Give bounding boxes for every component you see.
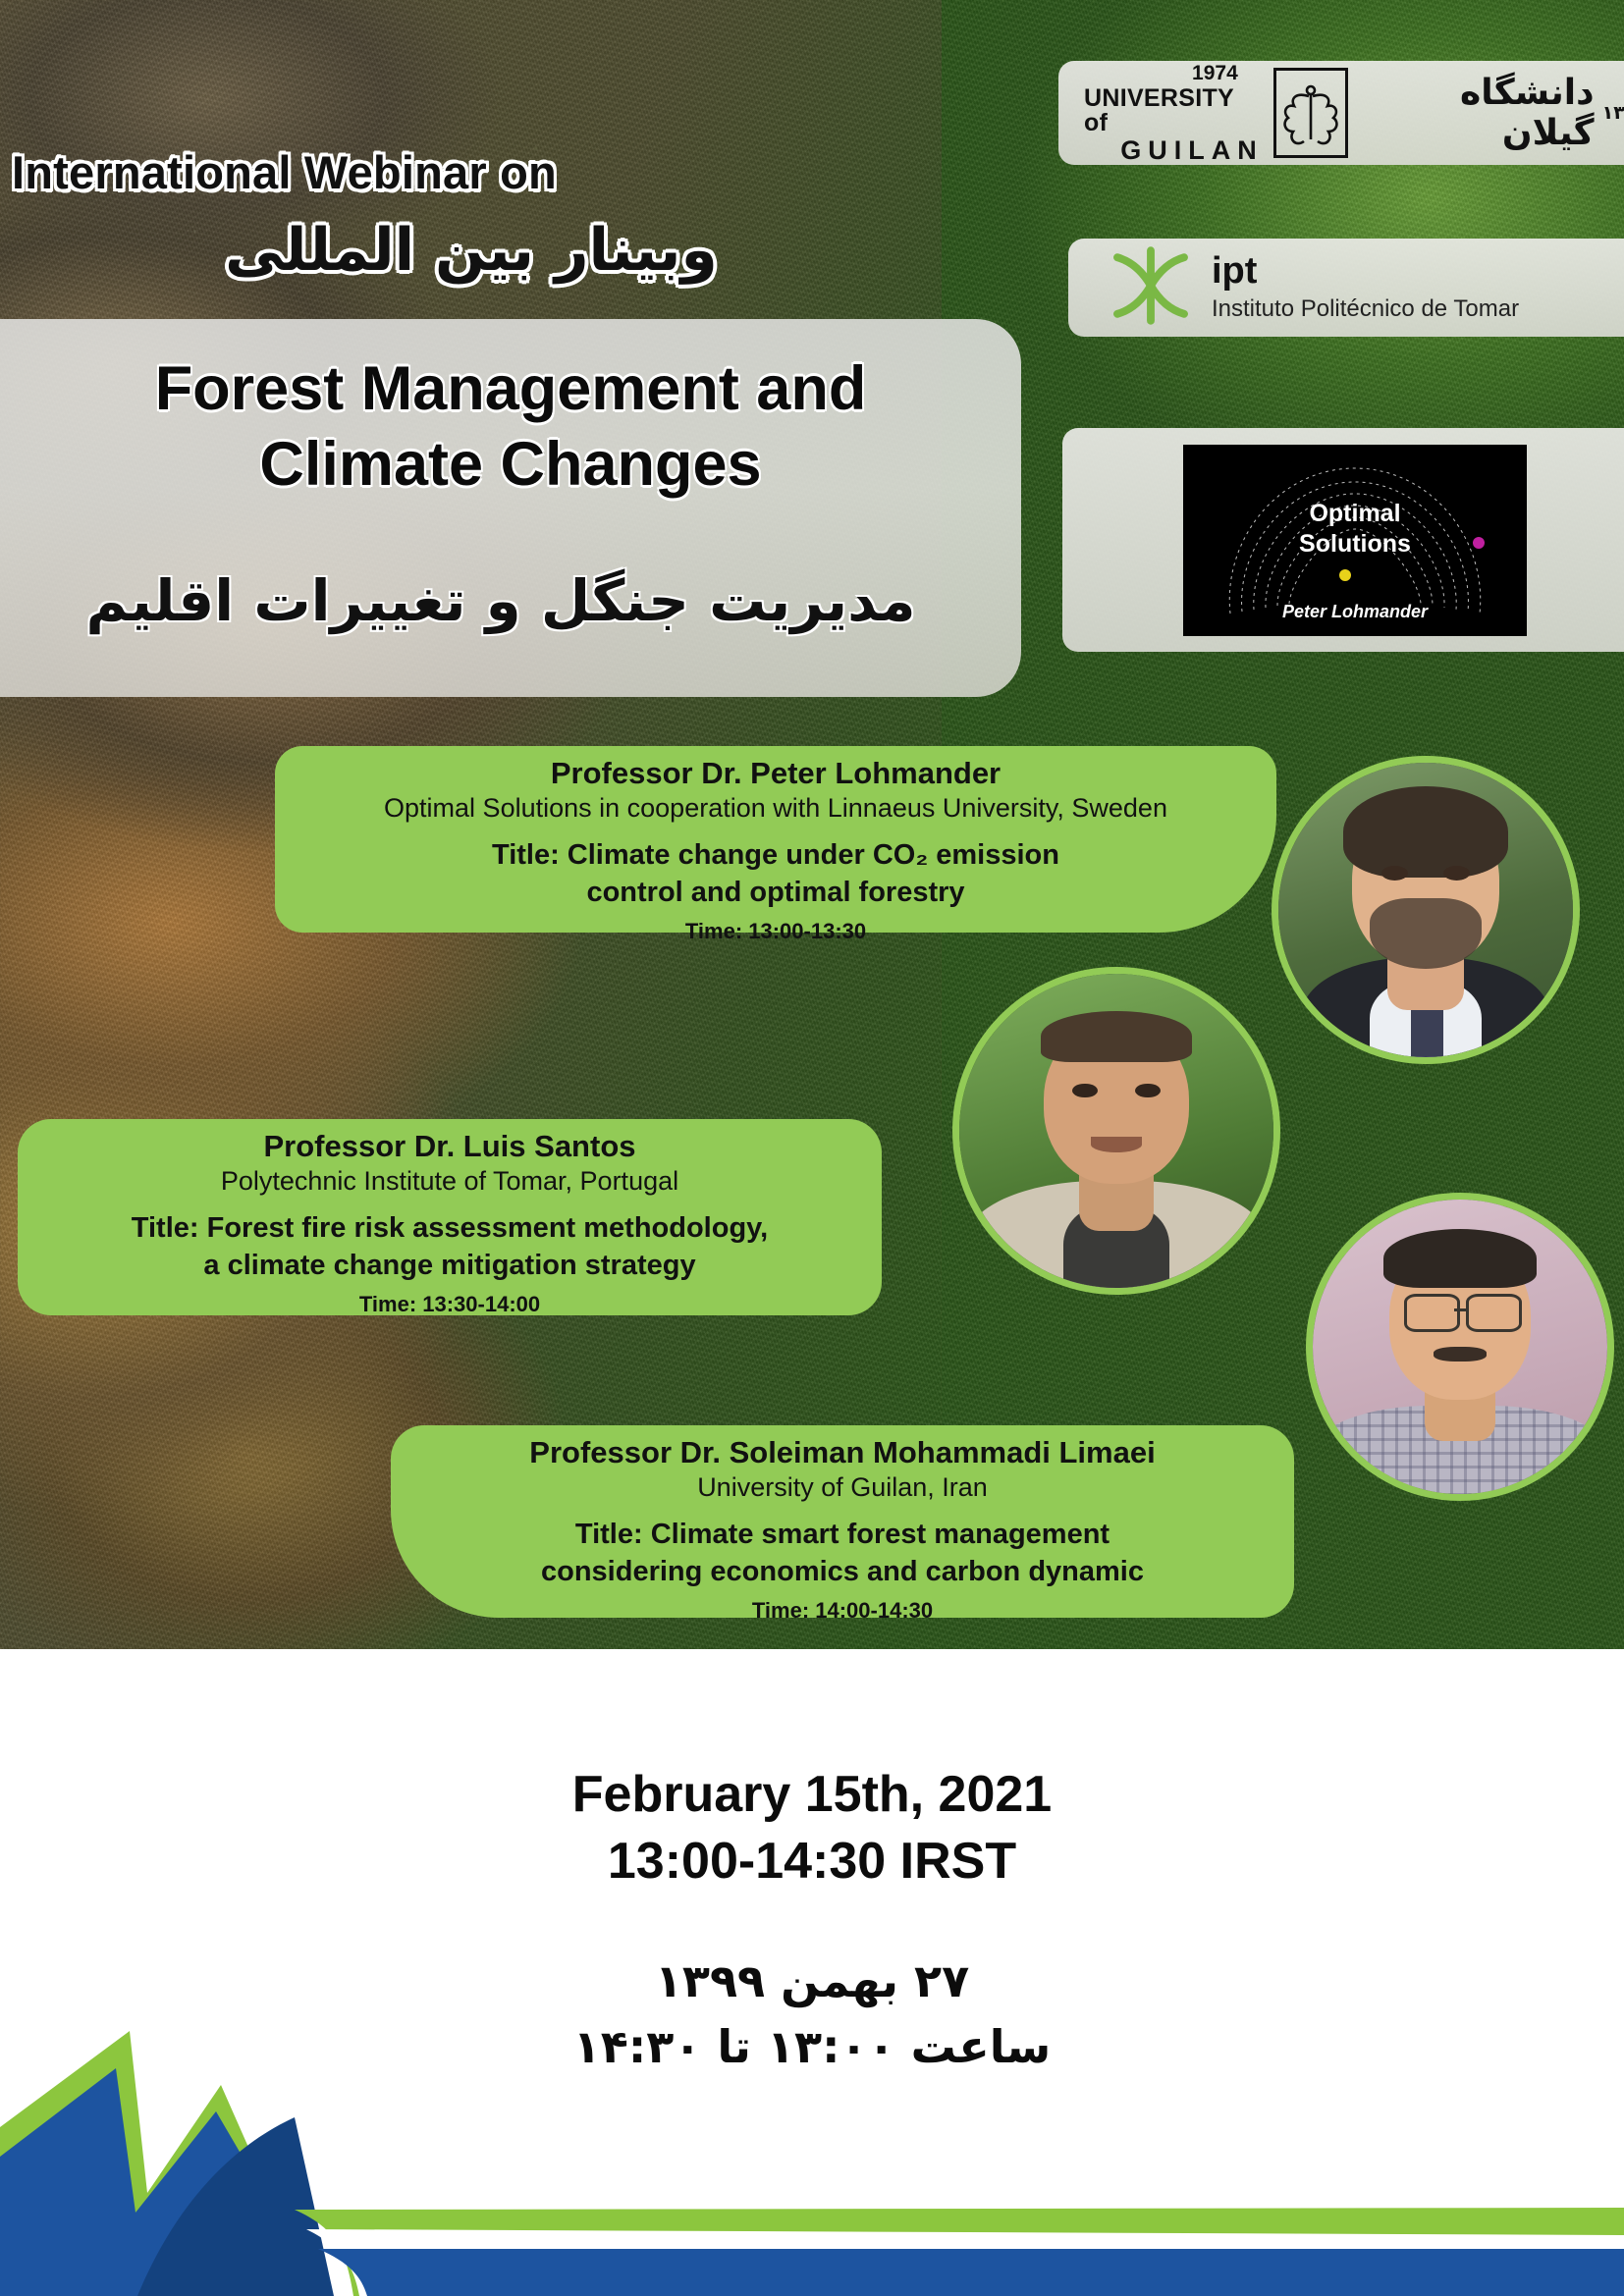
header-english-line: International Webinar on (12, 145, 557, 199)
speaker-2-time: Time: 13:30-14:00 (18, 1292, 882, 1317)
title-english-line2: Climate Changes (0, 427, 1021, 503)
optimal-title-line2: Solutions (1183, 529, 1527, 560)
speaker-card-2: Professor Dr. Luis Santos Polytechnic In… (18, 1119, 882, 1315)
footer-decoration (0, 2002, 1624, 2296)
speaker-1-talk-title: Title: Climate change under CO₂ emission… (275, 837, 1276, 911)
speaker-1-time: Time: 13:00-13:30 (275, 919, 1276, 944)
speaker-2-talk-title-line1: Title: Forest fire risk assessment metho… (18, 1210, 882, 1248)
logo-university-of-guilan: 1974 UNIVERSITY of GUILAN ۱۳۵۳ دانشگاه گ… (1058, 61, 1624, 165)
speaker-2-talk-title-line2: a climate change mitigation strategy (18, 1248, 882, 1285)
ipt-full-name: Instituto Politécnico de Tomar (1212, 295, 1519, 323)
logo-optimal-solutions: Optimal Solutions Peter Lohmander (1062, 428, 1624, 652)
speaker-3-talk-title-line1: Title: Climate smart forest management (391, 1517, 1294, 1554)
speaker-3-affiliation: University of Guilan, Iran (391, 1472, 1294, 1503)
speaker-3-talk-title: Title: Climate smart forest management c… (391, 1517, 1294, 1590)
page-title: Forest Management and Climate Changes (0, 351, 1021, 503)
portrait-soleiman-mohammadi-limaei (1306, 1193, 1614, 1501)
title-persian: مدیریت جنگل و تغییرات اقلیم (0, 567, 1001, 634)
optimal-solutions-author: Peter Lohmander (1183, 602, 1527, 622)
guilan-name-line2: GUILAN (1120, 137, 1264, 164)
optimal-title-line1: Optimal (1183, 499, 1527, 529)
speaker-1-talk-title-line2: control and optimal forestry (275, 875, 1276, 912)
speaker-1-affiliation: Optimal Solutions in cooperation with Li… (275, 793, 1276, 824)
guilan-name-persian: دانشگاه گیلان (1358, 73, 1595, 153)
event-date-english-block: February 15th, 2021 13:00-14:30 IRST (0, 1762, 1624, 1895)
title-english-line1: Forest Management and (0, 351, 1021, 427)
logo-instituto-politecnico-de-tomar: ipt Instituto Politécnico de Tomar (1068, 239, 1624, 337)
speaker-2-affiliation: Polytechnic Institute of Tomar, Portugal (18, 1166, 882, 1197)
guilan-founding-year-persian: ۱۳۵۳ (1602, 102, 1624, 124)
webinar-poster: International Webinar on وبینار بین المل… (0, 0, 1624, 2296)
event-time-english: 13:00-14:30 IRST (0, 1829, 1624, 1896)
guilan-name-line1: UNIVERSITY of (1084, 86, 1264, 135)
guilan-crest-icon (1273, 68, 1348, 158)
optimal-solutions-graphic: Optimal Solutions Peter Lohmander (1183, 445, 1527, 636)
speaker-1-talk-title-line1: Title: Climate change under CO₂ emission (275, 837, 1276, 875)
speaker-1-name: Professor Dr. Peter Lohmander (275, 756, 1276, 791)
speaker-2-name: Professor Dr. Luis Santos (18, 1129, 882, 1164)
speaker-3-talk-title-line2: considering economics and carbon dynamic (391, 1554, 1294, 1591)
speaker-card-1: Professor Dr. Peter Lohmander Optimal So… (275, 746, 1276, 933)
speaker-3-time: Time: 14:00-14:30 (391, 1598, 1294, 1624)
speaker-card-3: Professor Dr. Soleiman Mohammadi Limaei … (391, 1425, 1294, 1618)
portrait-luis-santos (952, 967, 1280, 1295)
header-persian-line: وبینار بین المللی (0, 216, 943, 285)
optimal-solutions-title: Optimal Solutions (1183, 499, 1527, 561)
guilan-founding-year: 1974 (1192, 63, 1238, 83)
event-date-english: February 15th, 2021 (0, 1762, 1624, 1829)
ipt-abbrev: ipt (1212, 252, 1519, 290)
portrait-peter-lohmander (1272, 756, 1580, 1064)
speaker-3-name: Professor Dr. Soleiman Mohammadi Limaei (391, 1435, 1294, 1470)
speaker-2-talk-title: Title: Forest fire risk assessment metho… (18, 1210, 882, 1284)
ipt-asterisk-icon (1104, 239, 1198, 338)
